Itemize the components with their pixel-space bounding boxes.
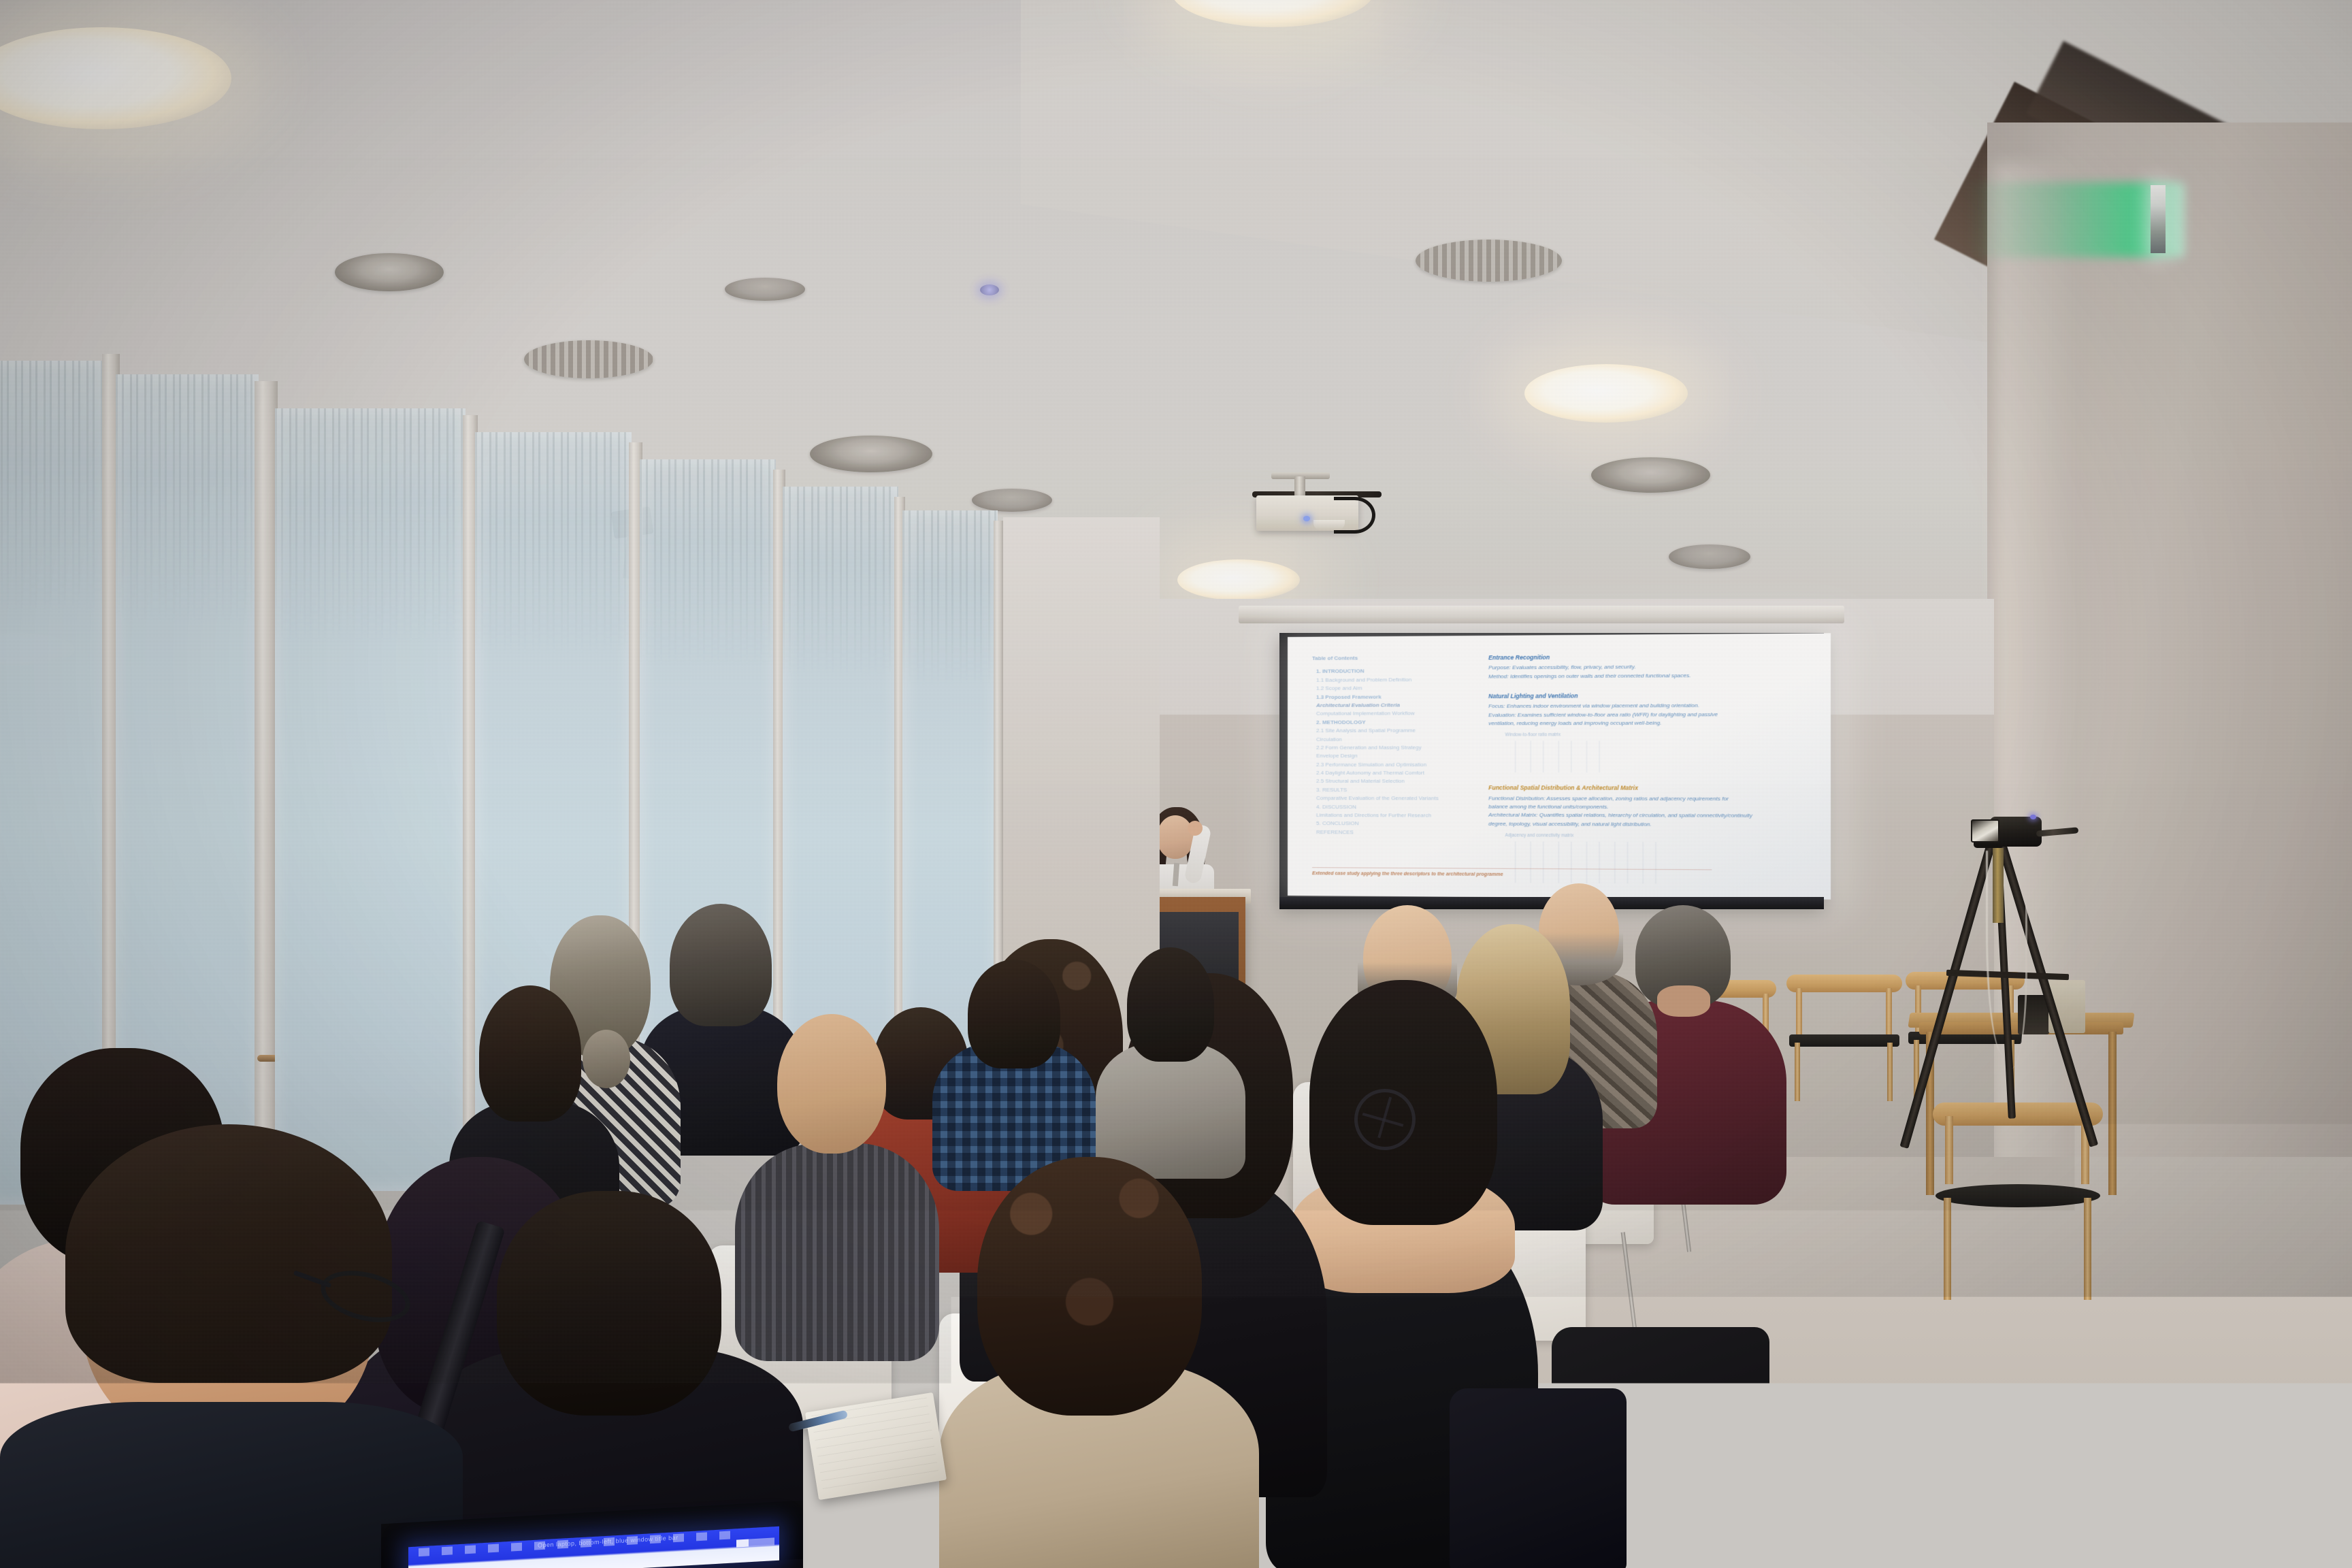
slide-matrix-diagram	[1509, 741, 1601, 773]
slide-section-gap	[1488, 772, 1809, 784]
projection-screen: Table of Contents 1. INTRODUCTION1.1 Bac…	[1288, 633, 1831, 899]
ceiling-vent-3	[1416, 240, 1562, 282]
slide-diagram-caption: Adjacency and connectivity matrix	[1505, 832, 1810, 840]
person-hair	[65, 1124, 392, 1383]
audience-woman-beige-coat	[939, 1157, 1259, 1568]
notebook-icon	[805, 1392, 947, 1500]
ceiling-vent-8	[1669, 544, 1750, 569]
toc-item-4: Architectural Evaluation Criteria	[1312, 701, 1473, 710]
chair-post	[1796, 988, 1802, 1039]
chair-backrest	[1786, 975, 1902, 992]
presenter-head	[1157, 815, 1194, 859]
smoke-detector-icon	[980, 284, 999, 295]
person-hair	[479, 985, 581, 1122]
person-hair	[497, 1191, 721, 1416]
conference-room-photo: Table of Contents 1. INTRODUCTION1.1 Bac…	[0, 0, 2352, 1568]
mullion-door-stile	[255, 381, 278, 1205]
backpack-2	[1450, 1388, 1627, 1568]
toc-item-5: Computational Implementation Workflow	[1312, 710, 1473, 719]
slide-sections: Entrance RecognitionPurpose: Evaluates a…	[1488, 651, 1809, 896]
slide-section-line: Evaluation: Examines sufficient window-t…	[1488, 710, 1809, 719]
slide-section-line: Functional Distribution: Assesses space …	[1488, 794, 1809, 803]
toc-item-10: Envelope Design	[1312, 752, 1473, 761]
chair-post	[1886, 988, 1892, 1039]
toc-item-16: 4. DISCUSSION	[1312, 803, 1473, 812]
toc-item-9: 2.2 Form Generation and Massing Strategy	[1312, 744, 1473, 753]
toc-heading: Table of Contents	[1312, 653, 1473, 663]
chair-seat	[1789, 1034, 1899, 1047]
toc-item-3: 1.3 Proposed Framework	[1312, 692, 1473, 701]
slide-table-of-contents: Table of Contents 1. INTRODUCTION1.1 Bac…	[1312, 653, 1473, 897]
chair-leg	[2084, 1198, 2091, 1300]
toc-item-17: Limitations and Directions for Further R…	[1312, 811, 1473, 820]
toc-item-7: 2.1 Site Analysis and Spatial Programme	[1312, 727, 1473, 736]
audience-man-checked-shirt	[932, 960, 1096, 1184]
person-head	[777, 1014, 886, 1154]
slide-body: Entrance RecognitionPurpose: Evaluates a…	[1488, 651, 1809, 899]
ceiling-vent-5	[725, 278, 805, 301]
person-hair	[1127, 947, 1214, 1062]
toc-list: 1. INTRODUCTION1.1 Background and Proble…	[1312, 667, 1473, 837]
wood-chair-2	[1786, 975, 1902, 1121]
slide-diagram-caption: Window-to-floor ratio matrix	[1505, 732, 1810, 739]
chair-leg	[1944, 1198, 1951, 1300]
recessed-light-3	[1524, 364, 1688, 423]
presenter-hand	[1188, 821, 1203, 836]
slide-section-heading: Functional Spatial Distribution & Archit…	[1488, 784, 1809, 794]
projector-led-icon	[1303, 516, 1310, 521]
chair-post	[1945, 1116, 1953, 1184]
toc-item-19: REFERENCES	[1312, 828, 1473, 837]
wood-chair-4	[1933, 1102, 2103, 1307]
slide-section-line: degree, topology, visual accessibility, …	[1488, 820, 1809, 830]
slide-section-line: ventilation, reducing energy loads and i…	[1488, 719, 1809, 728]
person-hair	[977, 1157, 1202, 1416]
camera-flip-screen-icon	[1971, 819, 1999, 843]
audience-man-grey-jumper	[1096, 947, 1245, 1172]
toc-item-12: 2.4 Daylight Autonomy and Thermal Comfor…	[1312, 769, 1473, 778]
person-neck	[1657, 985, 1710, 1017]
slide-section-0: Entrance RecognitionPurpose: Evaluates a…	[1488, 651, 1809, 691]
slide-section-1: Natural Lighting and VentilationFocus: E…	[1488, 691, 1809, 784]
toc-item-15: Comparative Evaluation of the Generated …	[1312, 794, 1473, 803]
toc-item-13: 2.5 Structural and Material Selection	[1312, 777, 1473, 786]
slide-section-line: Method: Identifies openings on outer wal…	[1488, 671, 1809, 681]
slide-section-gap	[1488, 679, 1809, 691]
projector-cable	[1334, 497, 1375, 534]
person-hair	[968, 960, 1060, 1068]
toc-item-6: 2. METHODOLOGY	[1312, 718, 1473, 727]
exit-light-icon	[2151, 185, 2166, 253]
person-hair	[670, 904, 772, 1026]
toc-item-1: 1.1 Background and Problem Definition	[1312, 675, 1473, 685]
slide-section-heading: Entrance Recognition	[1488, 651, 1809, 662]
chair-seat	[1935, 1184, 2100, 1207]
audience-man-foreground-glasses	[0, 1157, 463, 1568]
toc-item-11: 2.3 Performance Simulation and Optimisat…	[1312, 761, 1473, 770]
ceiling-vent-7	[1591, 457, 1710, 493]
equipment-table-leg	[2108, 1032, 2117, 1195]
camera-led-icon	[2030, 815, 2036, 819]
toc-item-8: Circulation	[1312, 735, 1473, 744]
chair-leg	[1887, 1043, 1893, 1101]
ceiling-vent-1	[335, 253, 444, 291]
toc-item-0: 1. INTRODUCTION	[1312, 667, 1473, 676]
glass-panel-2	[275, 408, 465, 1191]
chair-leg	[1795, 1043, 1800, 1101]
toc-item-14: 3. RESULTS	[1312, 786, 1473, 795]
presentation-slide: Table of Contents 1. INTRODUCTION1.1 Bac…	[1288, 633, 1831, 899]
recessed-light-4	[1177, 559, 1300, 600]
slide-section-line: balance among the functional units/compo…	[1488, 803, 1809, 813]
projection-screen-housing	[1239, 606, 1844, 623]
slide-section-heading: Natural Lighting and Ventilation	[1488, 691, 1809, 701]
toc-item-2: 1.2 Scope and Aim	[1312, 684, 1473, 693]
toc-item-18: 5. CONCLUSION	[1312, 820, 1473, 829]
